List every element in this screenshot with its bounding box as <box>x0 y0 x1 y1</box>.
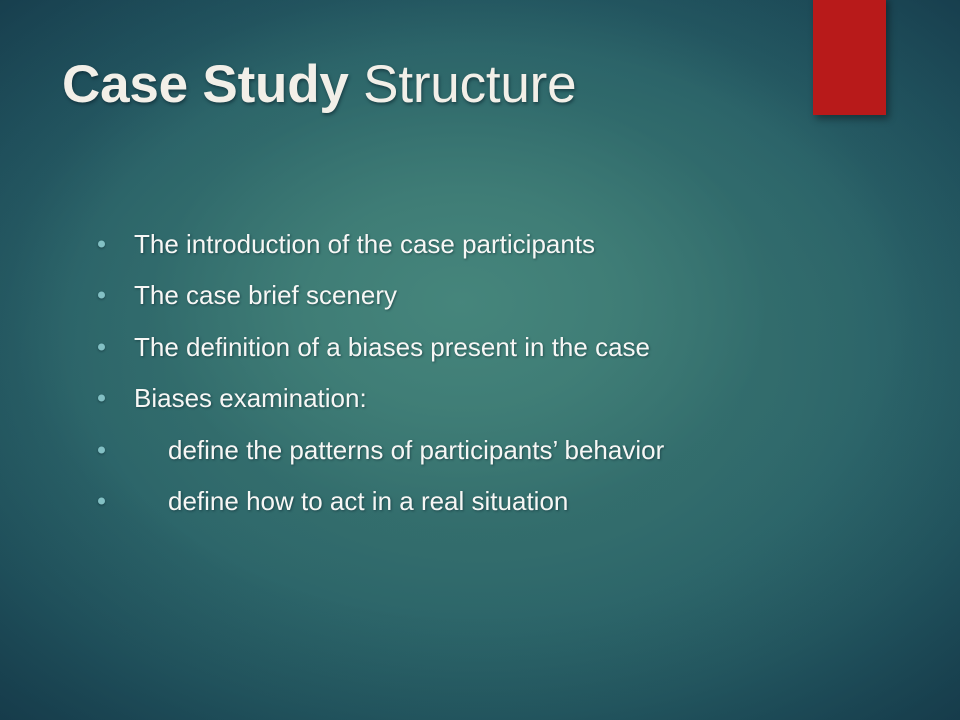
bullet-dot-icon <box>98 395 105 402</box>
list-item-label: Biases examination: <box>92 383 367 413</box>
list-item-label: define how to act in a real situation <box>92 486 568 516</box>
bullet-list: The introduction of the case participant… <box>92 218 892 527</box>
bullet-dot-icon <box>98 446 105 453</box>
list-item: Biases examination: <box>92 373 892 425</box>
red-accent-rectangle <box>813 0 886 115</box>
list-item: The case brief scenery <box>92 270 892 322</box>
list-item: The definition of a biases present in th… <box>92 321 892 373</box>
list-item-label: The case brief scenery <box>92 280 397 310</box>
bullet-dot-icon <box>98 343 105 350</box>
page-title: Case Study Structure <box>62 55 576 115</box>
list-item: define how to act in a real situation <box>92 476 892 528</box>
bullet-dot-icon <box>98 240 105 247</box>
list-item: The introduction of the case participant… <box>92 218 892 270</box>
list-item-label: The definition of a biases present in th… <box>92 332 650 362</box>
list-item-label: define the patterns of participants’ beh… <box>92 435 664 465</box>
list-item-label: The introduction of the case participant… <box>92 229 595 259</box>
page-title-regular: Structure <box>349 55 577 114</box>
list-item: define the patterns of participants’ beh… <box>92 424 892 476</box>
presentation-slide: Case Study Structure The introduction of… <box>0 0 960 720</box>
page-title-bold: Case Study <box>62 55 349 114</box>
bullet-dot-icon <box>98 292 105 299</box>
bullet-dot-icon <box>98 498 105 505</box>
